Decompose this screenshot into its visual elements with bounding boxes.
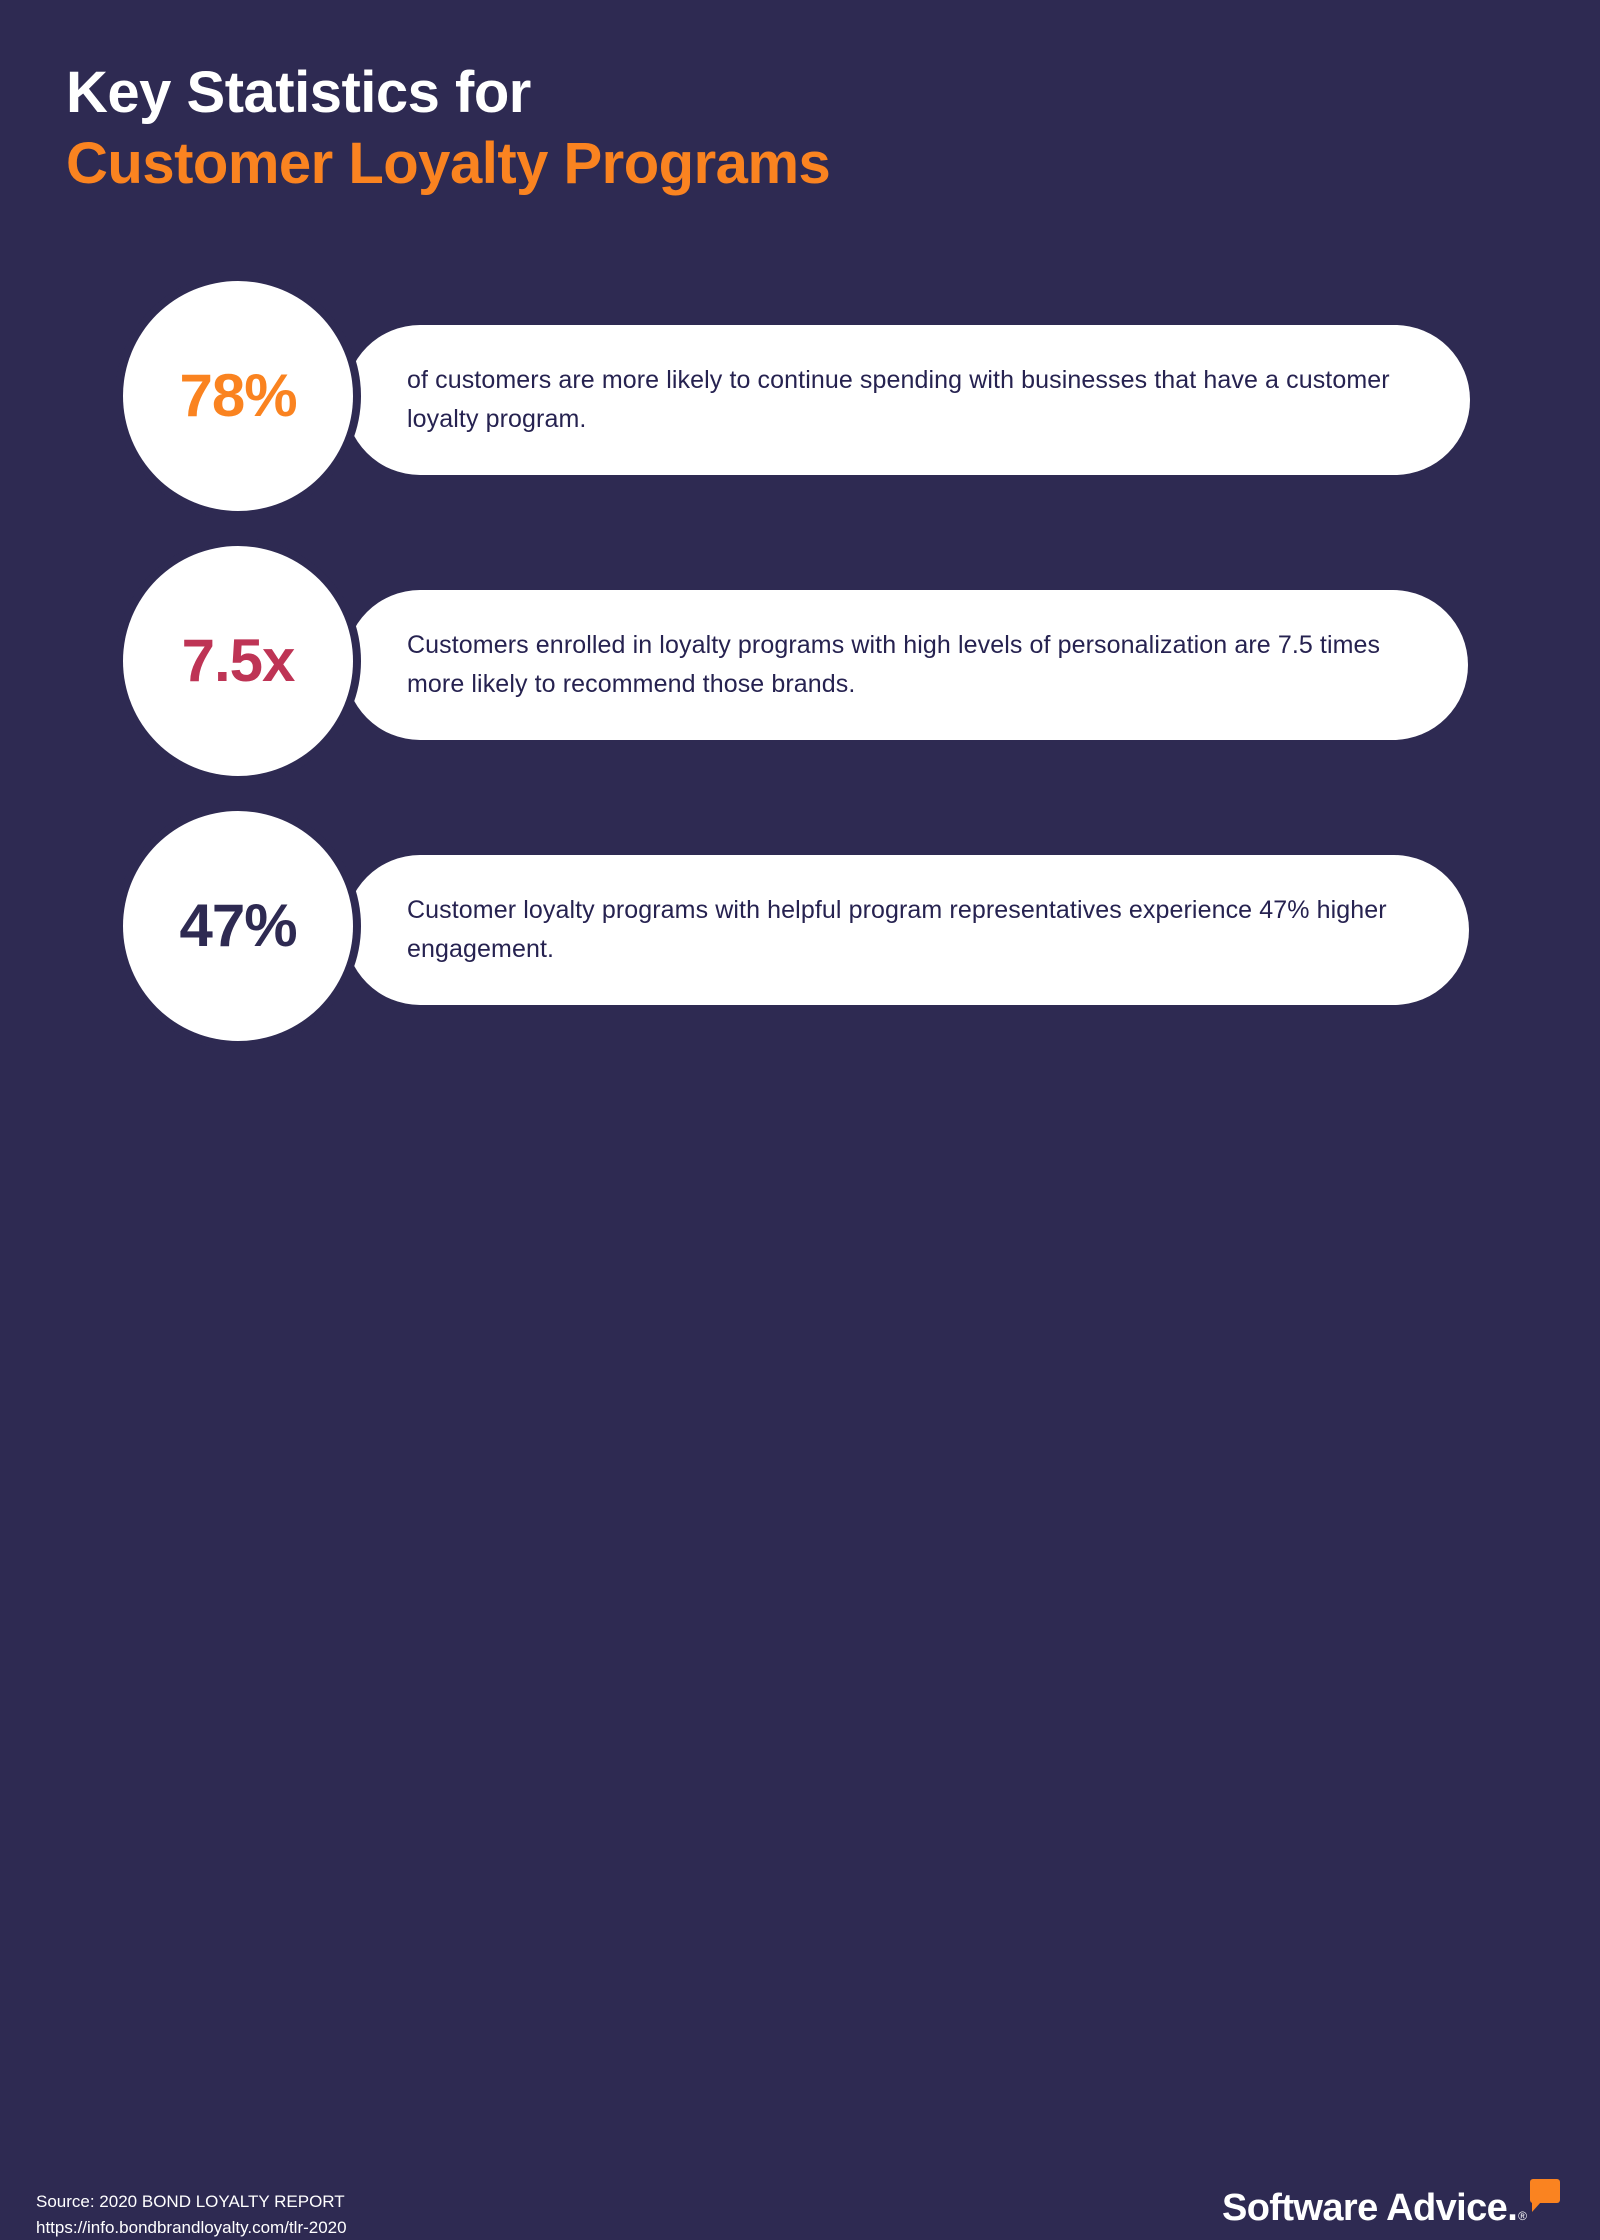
registered-trademark-icon: ®	[1517, 2209, 1527, 2227]
stat-value: 78%	[179, 366, 296, 426]
source-attribution: Source: 2020 BOND LOYALTY REPORT https:/…	[36, 2189, 347, 2240]
stat-pill: Customer loyalty programs with helpful p…	[345, 855, 1469, 1005]
stat-value: 47%	[179, 896, 296, 956]
logo-wordmark: Software Advice.	[1222, 2177, 1517, 2227]
page-footer: Source: 2020 BOND LOYALTY REPORT https:/…	[0, 1087, 1600, 1227]
stat-circle: 7.5x	[123, 546, 353, 776]
stat-value: 7.5x	[182, 631, 295, 691]
stat-circle: 47%	[123, 811, 353, 1041]
software-advice-logo[interactable]: Software Advice. ®	[1222, 2177, 1560, 2227]
stat-circle: 78%	[123, 281, 353, 511]
stat-pill: of customers are more likely to continue…	[345, 325, 1470, 475]
stat-description: of customers are more likely to continue…	[407, 361, 1410, 439]
source-url[interactable]: https://info.bondbrandloyalty.com/tlr-20…	[36, 2215, 347, 2240]
stat-description: Customers enrolled in loyalty programs w…	[407, 626, 1408, 704]
source-label: Source: 2020 BOND LOYALTY REPORT	[36, 2189, 347, 2215]
stats-list: of customers are more likely to continue…	[0, 0, 1600, 1227]
stat-description: Customer loyalty programs with helpful p…	[407, 891, 1409, 969]
stat-pill: Customers enrolled in loyalty programs w…	[345, 590, 1468, 740]
speech-bubble-icon	[1530, 2179, 1560, 2203]
infographic-canvas: Key Statistics for Customer Loyalty Prog…	[0, 0, 1600, 1227]
